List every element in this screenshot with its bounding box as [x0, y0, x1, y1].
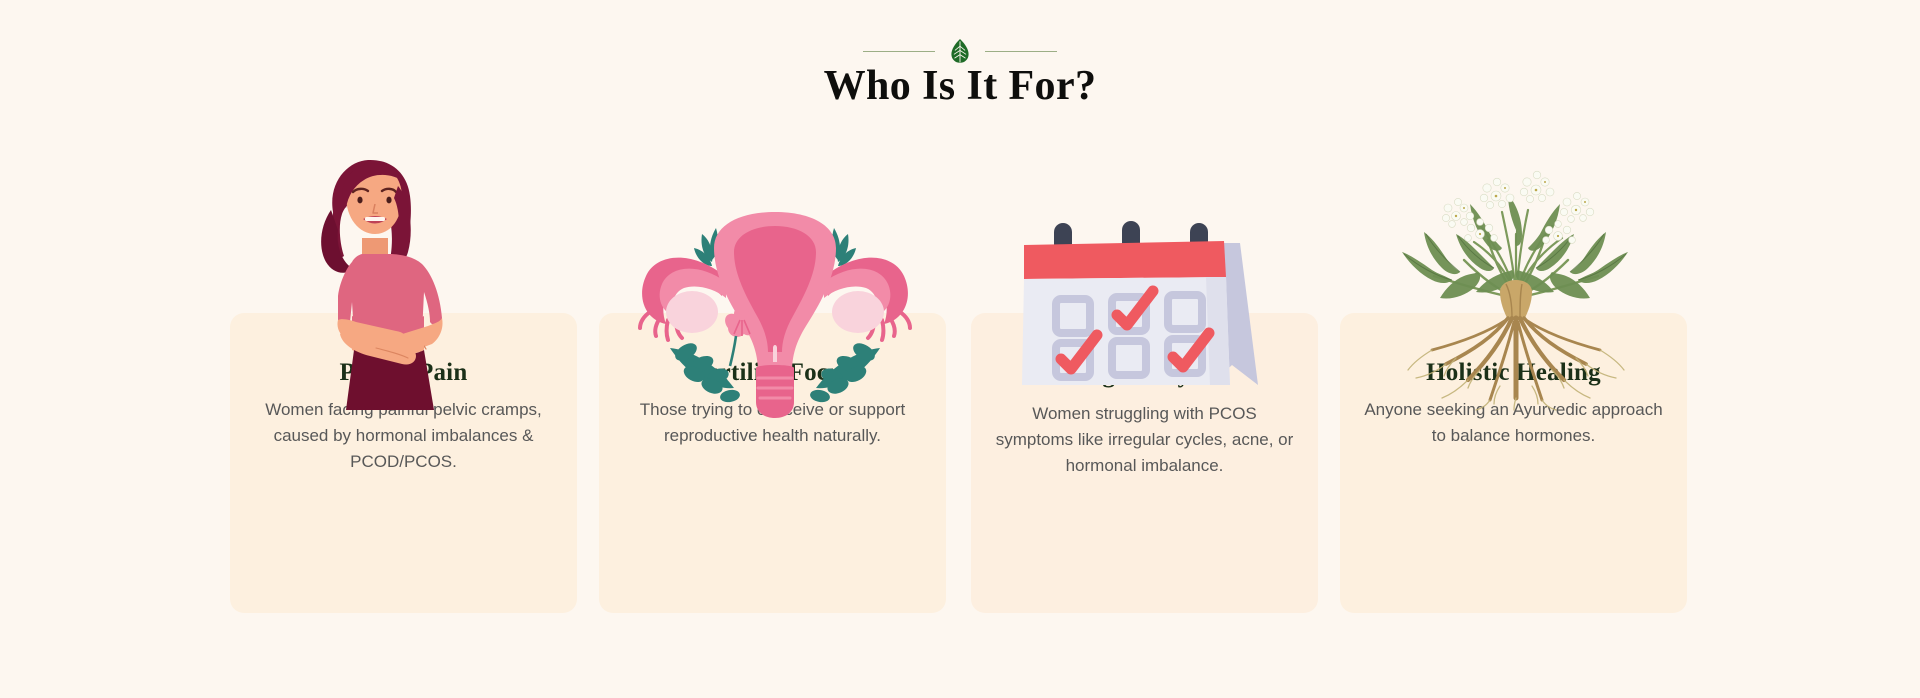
page-title: Who Is It For? — [0, 62, 1920, 110]
card-description: Anyone seeking an Ayurvedic approach to … — [1364, 397, 1663, 449]
card-title: Period Pain — [230, 359, 577, 387]
card-irregular-cycles[interactable]: Irregular cycles Women struggling with P… — [971, 313, 1318, 613]
card-period-pain[interactable]: Period Pain Women facing painful pelvic … — [230, 313, 577, 613]
card-description: Women struggling with PCOS symptoms like… — [995, 401, 1294, 478]
card-title: Holistic Healing — [1340, 359, 1687, 387]
card-description: Women facing painful pelvic cramps, caus… — [254, 397, 553, 474]
divider-line-right — [985, 51, 1057, 52]
divider-line-left — [863, 51, 935, 52]
card-description: Those trying to conceive or support repr… — [623, 397, 922, 449]
card-holistic-healing[interactable]: Holistic Healing Anyone seeking an Ayurv… — [1340, 313, 1687, 613]
heading-divider — [0, 38, 1920, 64]
card-fertility-focus[interactable]: Fertility Focus Those trying to conceive… — [599, 313, 946, 613]
cards-row: Period Pain Women facing painful pelvic … — [230, 313, 1690, 613]
card-title: Fertility Focus — [599, 359, 946, 387]
leaf-icon — [949, 38, 971, 64]
card-title: Irregular cycles — [971, 361, 1318, 389]
